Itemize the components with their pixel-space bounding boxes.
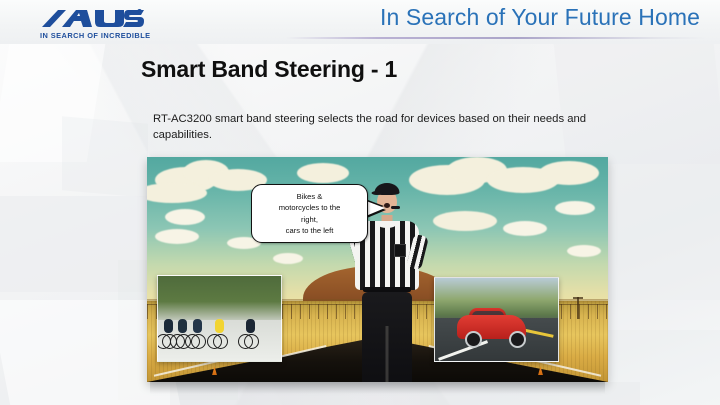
header-divider — [286, 37, 706, 39]
car-wheel — [509, 331, 526, 348]
referee-cap — [374, 183, 399, 195]
referee-collar — [378, 221, 396, 228]
speech-bubble: Bikes & motorcycles to the right, cars t… — [251, 184, 368, 243]
cyclist — [191, 319, 204, 349]
cyclists-photo — [157, 275, 282, 362]
bubble-line-4: cars to the left — [286, 226, 334, 235]
body-text: RT-AC3200 smart band steering selects th… — [153, 111, 598, 144]
asus-logo: IN SEARCH OF INCREDIBLE — [40, 9, 144, 41]
background-facet — [610, 150, 720, 300]
background-facet — [62, 116, 148, 198]
cloud — [503, 221, 547, 236]
cloud — [539, 161, 599, 185]
cloud — [273, 253, 303, 264]
bubble-line-3: right, — [301, 215, 318, 224]
cloud — [155, 229, 199, 244]
page-title: Smart Band Steering - 1 — [141, 56, 397, 83]
sports-car-photo — [434, 277, 559, 362]
utility-pole — [577, 297, 579, 319]
background-facet — [0, 44, 105, 162]
cloud — [297, 163, 349, 183]
asus-tagline: IN SEARCH OF INCREDIBLE — [40, 31, 144, 40]
bubble-line-2: motorcycles to the — [279, 203, 341, 212]
cloud — [433, 211, 497, 231]
background-facet — [554, 44, 720, 164]
cyclist-yellow-jersey — [213, 319, 226, 349]
presentation-slide: In Search of Your Future Home IN SEARCH … — [0, 0, 720, 405]
referee-badge — [394, 244, 406, 257]
speech-bubble-text: Bikes & motorcycles to the right, cars t… — [273, 191, 347, 237]
referee-leg-gap — [385, 326, 388, 382]
header-title: In Search of Your Future Home — [380, 4, 700, 31]
bubble-line-1: Bikes & — [297, 192, 323, 201]
cloud — [165, 209, 205, 225]
whistle-icon — [391, 206, 400, 209]
cloud — [555, 201, 595, 215]
cloud — [567, 245, 601, 257]
cyclist — [244, 319, 257, 349]
asus-logo-mark — [40, 9, 144, 31]
background-facet — [0, 196, 150, 292]
scene-floor-shadow — [150, 382, 605, 394]
scene-background: Bikes & motorcycles to the right, cars t… — [147, 157, 608, 382]
car-wheel — [465, 331, 482, 348]
band-steering-illustration: Bikes & motorcycles to the right, cars t… — [147, 157, 608, 382]
